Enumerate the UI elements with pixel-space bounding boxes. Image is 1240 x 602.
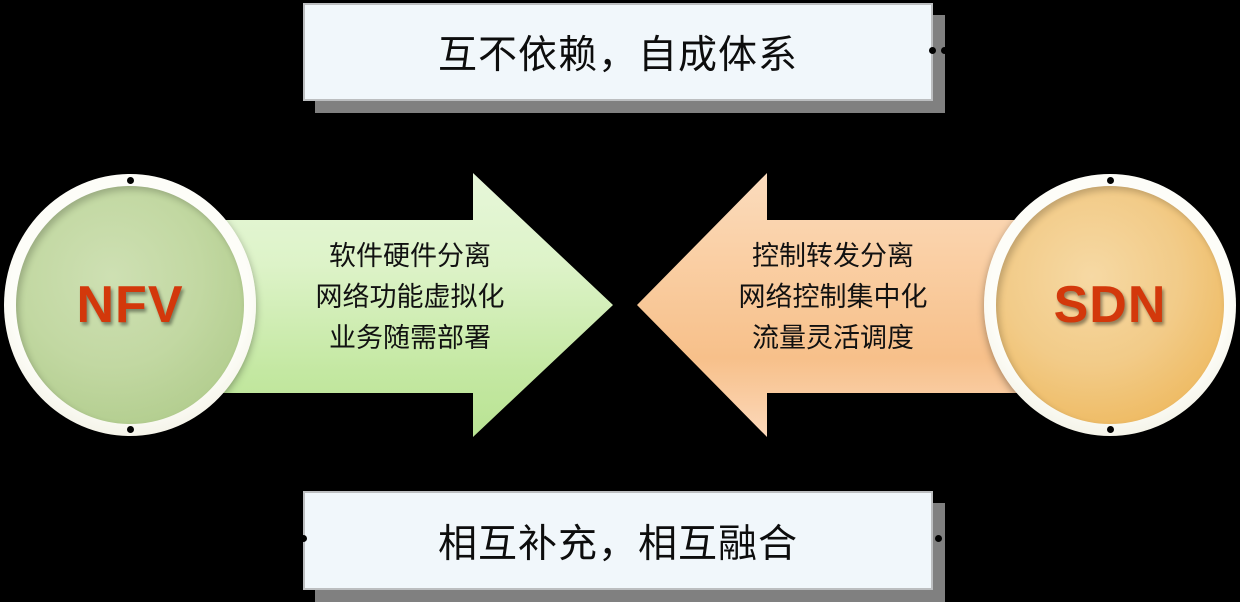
bottom-caption-box[interactable]: 相互补充，相互融合 bbox=[303, 491, 933, 590]
sdn-handle-top[interactable] bbox=[1107, 177, 1114, 184]
top-box-handle-shadow-right[interactable] bbox=[941, 47, 948, 54]
left-arrow-text: 软件硬件分离 网络功能虚拟化 业务随需部署 bbox=[300, 236, 520, 359]
nfv-handle-top[interactable] bbox=[127, 177, 134, 184]
bottom-caption-text: 相互补充，相互融合 bbox=[438, 513, 798, 569]
left-arrow-line-1: 软件硬件分离 bbox=[329, 236, 491, 277]
right-arrow-line-1: 控制转发分离 bbox=[752, 236, 914, 277]
sdn-label: SDN bbox=[1054, 275, 1167, 335]
right-arrow-line-3: 流量灵活调度 bbox=[752, 318, 914, 359]
nfv-inner-disc: NFV bbox=[16, 186, 244, 424]
sdn-handle-bottom[interactable] bbox=[1107, 426, 1114, 433]
top-box-handle-right[interactable] bbox=[929, 47, 936, 54]
top-caption-text: 互不依赖，自成体系 bbox=[438, 24, 798, 80]
nfv-label: NFV bbox=[77, 275, 184, 335]
left-arrow-line-2: 网络功能虚拟化 bbox=[316, 277, 505, 318]
diagram-canvas: 互不依赖，自成体系 软件硬件分离 网络功能虚拟化 业务随需部署 控制转发分离 网… bbox=[0, 0, 1240, 602]
sdn-inner-disc: SDN bbox=[996, 186, 1224, 424]
top-caption-box[interactable]: 互不依赖，自成体系 bbox=[303, 3, 933, 101]
right-arrow-line-2: 网络控制集中化 bbox=[739, 277, 928, 318]
left-arrow-line-3: 业务随需部署 bbox=[329, 318, 491, 359]
nfv-node[interactable]: NFV bbox=[4, 174, 256, 436]
bottom-box-handle-right[interactable] bbox=[935, 535, 942, 542]
right-arrow-text: 控制转发分离 网络控制集中化 流量灵活调度 bbox=[723, 236, 943, 359]
bottom-box-handle-left[interactable] bbox=[300, 535, 307, 542]
sdn-node[interactable]: SDN bbox=[984, 174, 1236, 436]
nfv-handle-bottom[interactable] bbox=[127, 426, 134, 433]
